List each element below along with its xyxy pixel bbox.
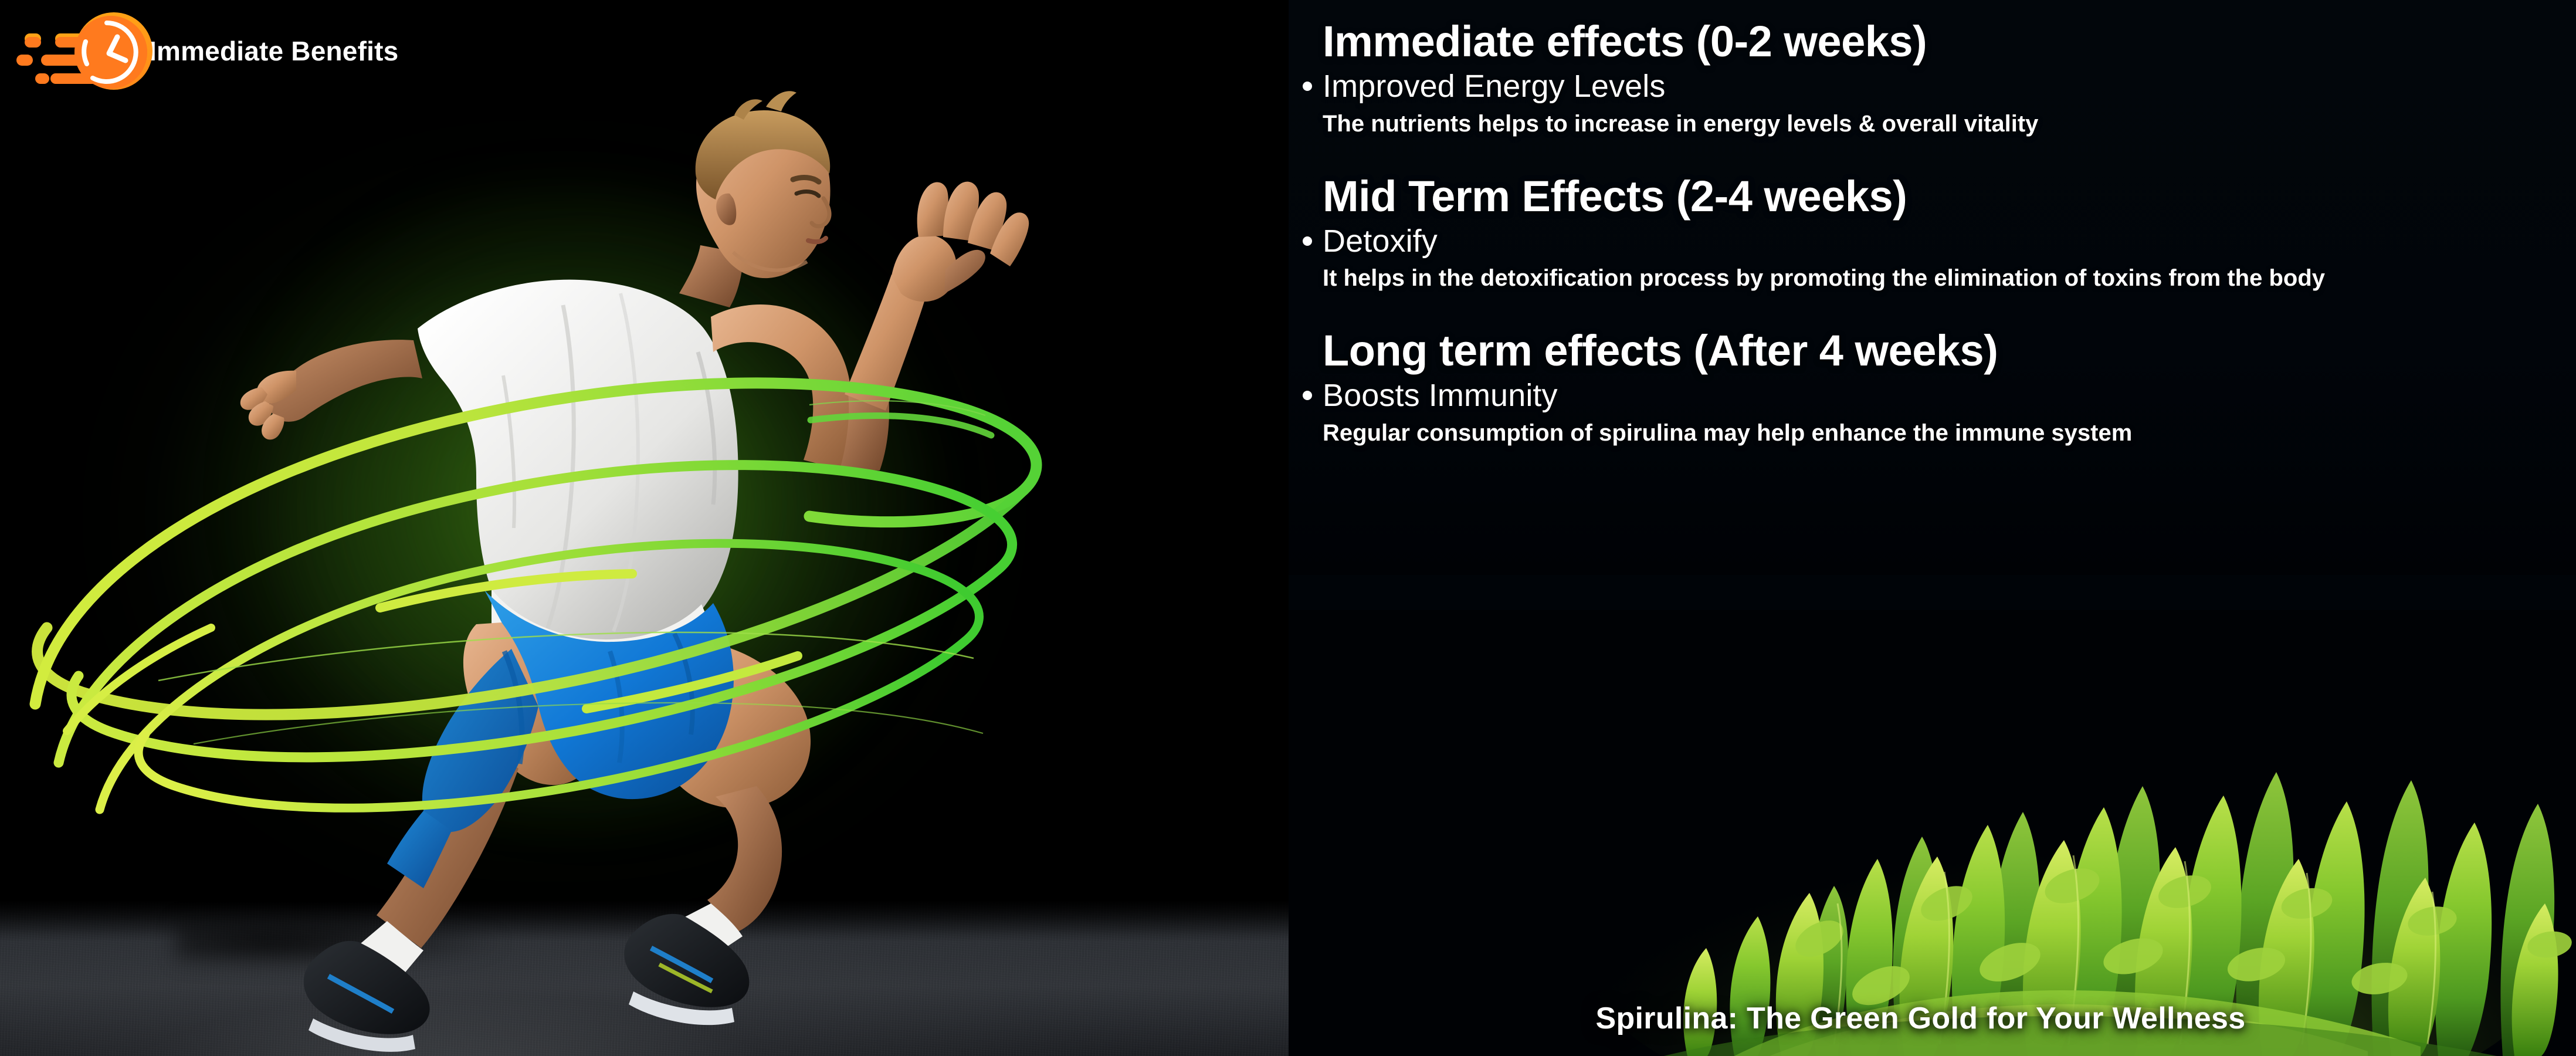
badge-title: Immediate Benefits <box>149 35 398 67</box>
fast-clock-icon <box>14 8 155 94</box>
section-heading: Mid Term Effects (2-4 weeks) <box>1299 172 2576 221</box>
bullet-item: Boosts Immunity <box>1299 377 2576 415</box>
section-heading: Immediate effects (0-2 weeks) <box>1299 18 2576 66</box>
section-mid-term: Mid Term Effects (2-4 weeks) Detoxify It… <box>1299 172 2576 295</box>
bullet-description: It helps in the detoxification process b… <box>1299 262 2367 294</box>
section-long-term: Long term effects (After 4 weeks) Boosts… <box>1299 327 2576 449</box>
bullet-dot-icon <box>1303 391 1312 400</box>
bullet-label: Boosts Immunity <box>1323 377 1558 415</box>
right-panel: Immediate effects (0-2 weeks) Improved E… <box>1289 0 2576 1056</box>
section-spacer <box>1299 300 2576 327</box>
bullet-item: Detoxify <box>1299 222 2576 260</box>
bullet-description: The nutrients helps to increase in energ… <box>1299 108 2576 140</box>
running-athlete-photo <box>0 0 1289 1056</box>
bullet-item: Improved Energy Levels <box>1299 67 2576 106</box>
bullet-description: Regular consumption of spirulina may hel… <box>1299 417 2214 449</box>
section-spacer <box>1299 145 2576 172</box>
effects-list: Immediate effects (0-2 weeks) Improved E… <box>1289 0 2576 1056</box>
slide-root: Immediate Benefits <box>0 0 2576 1056</box>
immediate-benefits-badge: Immediate Benefits <box>14 7 366 95</box>
slide-caption: Spirulina: The Green Gold for Your Welln… <box>1289 1001 2576 1036</box>
section-heading: Long term effects (After 4 weeks) <box>1299 327 2576 375</box>
bullet-label: Detoxify <box>1323 222 1438 260</box>
bullet-dot-icon <box>1303 82 1312 91</box>
bullet-label: Improved Energy Levels <box>1323 67 1666 106</box>
left-panel: Immediate Benefits <box>0 0 1289 1056</box>
bullet-dot-icon <box>1303 236 1312 246</box>
section-immediate: Immediate effects (0-2 weeks) Improved E… <box>1299 18 2576 140</box>
